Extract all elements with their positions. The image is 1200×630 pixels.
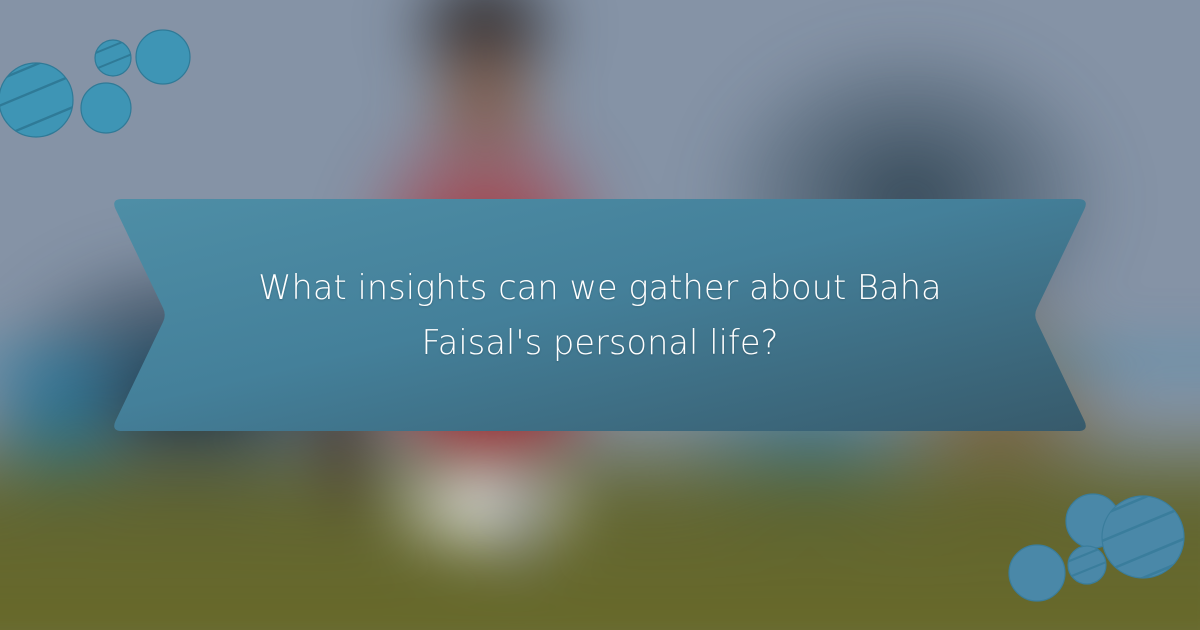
headline-line-2: Faisal's personal life? [421, 315, 778, 370]
background-player-shorts [370, 440, 600, 570]
background-player-face [410, 10, 560, 180]
headline-text-block: What insights can we gather about Baha F… [170, 196, 1030, 434]
headline-line-1: What insights can we gather about Baha [258, 260, 941, 315]
background-grass [0, 410, 1200, 630]
social-card: What insights can we gather about Baha F… [0, 0, 1200, 630]
background-player-shorts-shadow [495, 445, 545, 595]
